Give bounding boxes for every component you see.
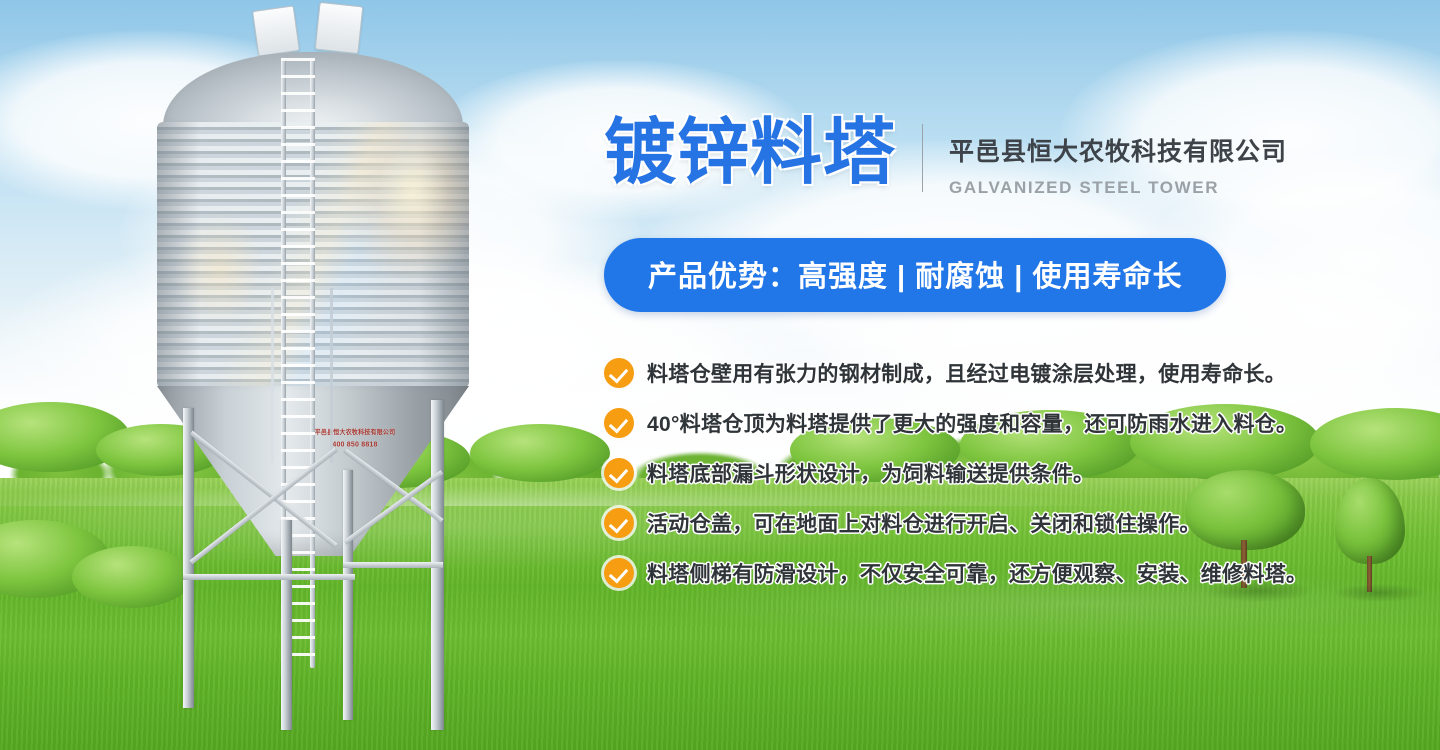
feature-text: 料塔侧梯有防滑设计，不仅安全可靠，还方便观察、安装、维修料塔。	[647, 558, 1307, 588]
title-divider	[922, 124, 923, 192]
silo-roof-hatch	[252, 5, 300, 56]
feature-text: 40°料塔仓顶为料塔提供了更大的强度和容量，还可防雨水进入料仓。	[647, 408, 1297, 438]
feature-item: 料塔底部漏斗形状设计，为饲料输送提供条件。	[604, 448, 1394, 498]
feature-text: 料塔底部漏斗形状设计，为饲料输送提供条件。	[647, 458, 1094, 488]
check-circle-icon	[604, 358, 634, 388]
silo-support-leg	[281, 520, 292, 730]
company-block: 平邑县恒大农牧科技有限公司 GALVANIZED STEEL TOWER	[949, 110, 1287, 198]
feature-item: 料塔仓壁用有张力的钢材制成，且经过电镀涂层处理，使用寿命长。	[604, 348, 1394, 398]
feature-item: 活动仓盖，可在地面上对料仓进行开启、关闭和锁住操作。	[604, 498, 1394, 548]
feature-text: 活动仓盖，可在地面上对料仓进行开启、关闭和锁住操作。	[647, 508, 1201, 538]
page-title: 镀锌料塔	[604, 110, 896, 196]
hero-content: 镀锌料塔 平邑县恒大农牧科技有限公司 GALVANIZED STEEL TOWE…	[604, 110, 1394, 598]
ladder-safety-cage	[271, 288, 333, 463]
check-circle-icon	[604, 408, 634, 438]
silo-roof-hatch	[315, 2, 364, 54]
product-hero-banner: 平邑县恒大农牧科技有限公司 400 850 8818 镀锌料塔 平邑县恒大农牧科…	[0, 0, 1440, 750]
hopper-phone-text: 400 850 8818	[332, 441, 377, 448]
feature-item: 料塔侧梯有防滑设计，不仅安全可靠，还方便观察、安装、维修料塔。	[604, 548, 1394, 598]
silo-support-leg	[343, 470, 353, 720]
galvanized-silo-image: 平邑县恒大农牧科技有限公司 400 850 8818	[95, 0, 515, 750]
check-circle-icon	[604, 508, 634, 538]
check-circle-icon	[604, 558, 634, 588]
company-subtitle-en: GALVANIZED STEEL TOWER	[949, 178, 1287, 198]
silo-leg-crossbar	[183, 574, 355, 580]
check-circle-icon	[604, 458, 634, 488]
feature-text: 料塔仓壁用有张力的钢材制成，且经过电镀涂层处理，使用寿命长。	[647, 358, 1286, 388]
feature-item: 40°料塔仓顶为料塔提供了更大的强度和容量，还可防雨水进入料仓。	[604, 398, 1394, 448]
company-name: 平邑县恒大农牧科技有限公司	[949, 132, 1287, 168]
advantages-pill: 产品优势：高强度 | 耐腐蚀 | 使用寿命长	[604, 238, 1226, 312]
feature-list: 料塔仓壁用有张力的钢材制成，且经过电镀涂层处理，使用寿命长。 40°料塔仓顶为料…	[604, 348, 1394, 598]
silo-leg-crossbar	[343, 562, 443, 568]
title-row: 镀锌料塔 平邑县恒大农牧科技有限公司 GALVANIZED STEEL TOWE…	[604, 110, 1394, 198]
